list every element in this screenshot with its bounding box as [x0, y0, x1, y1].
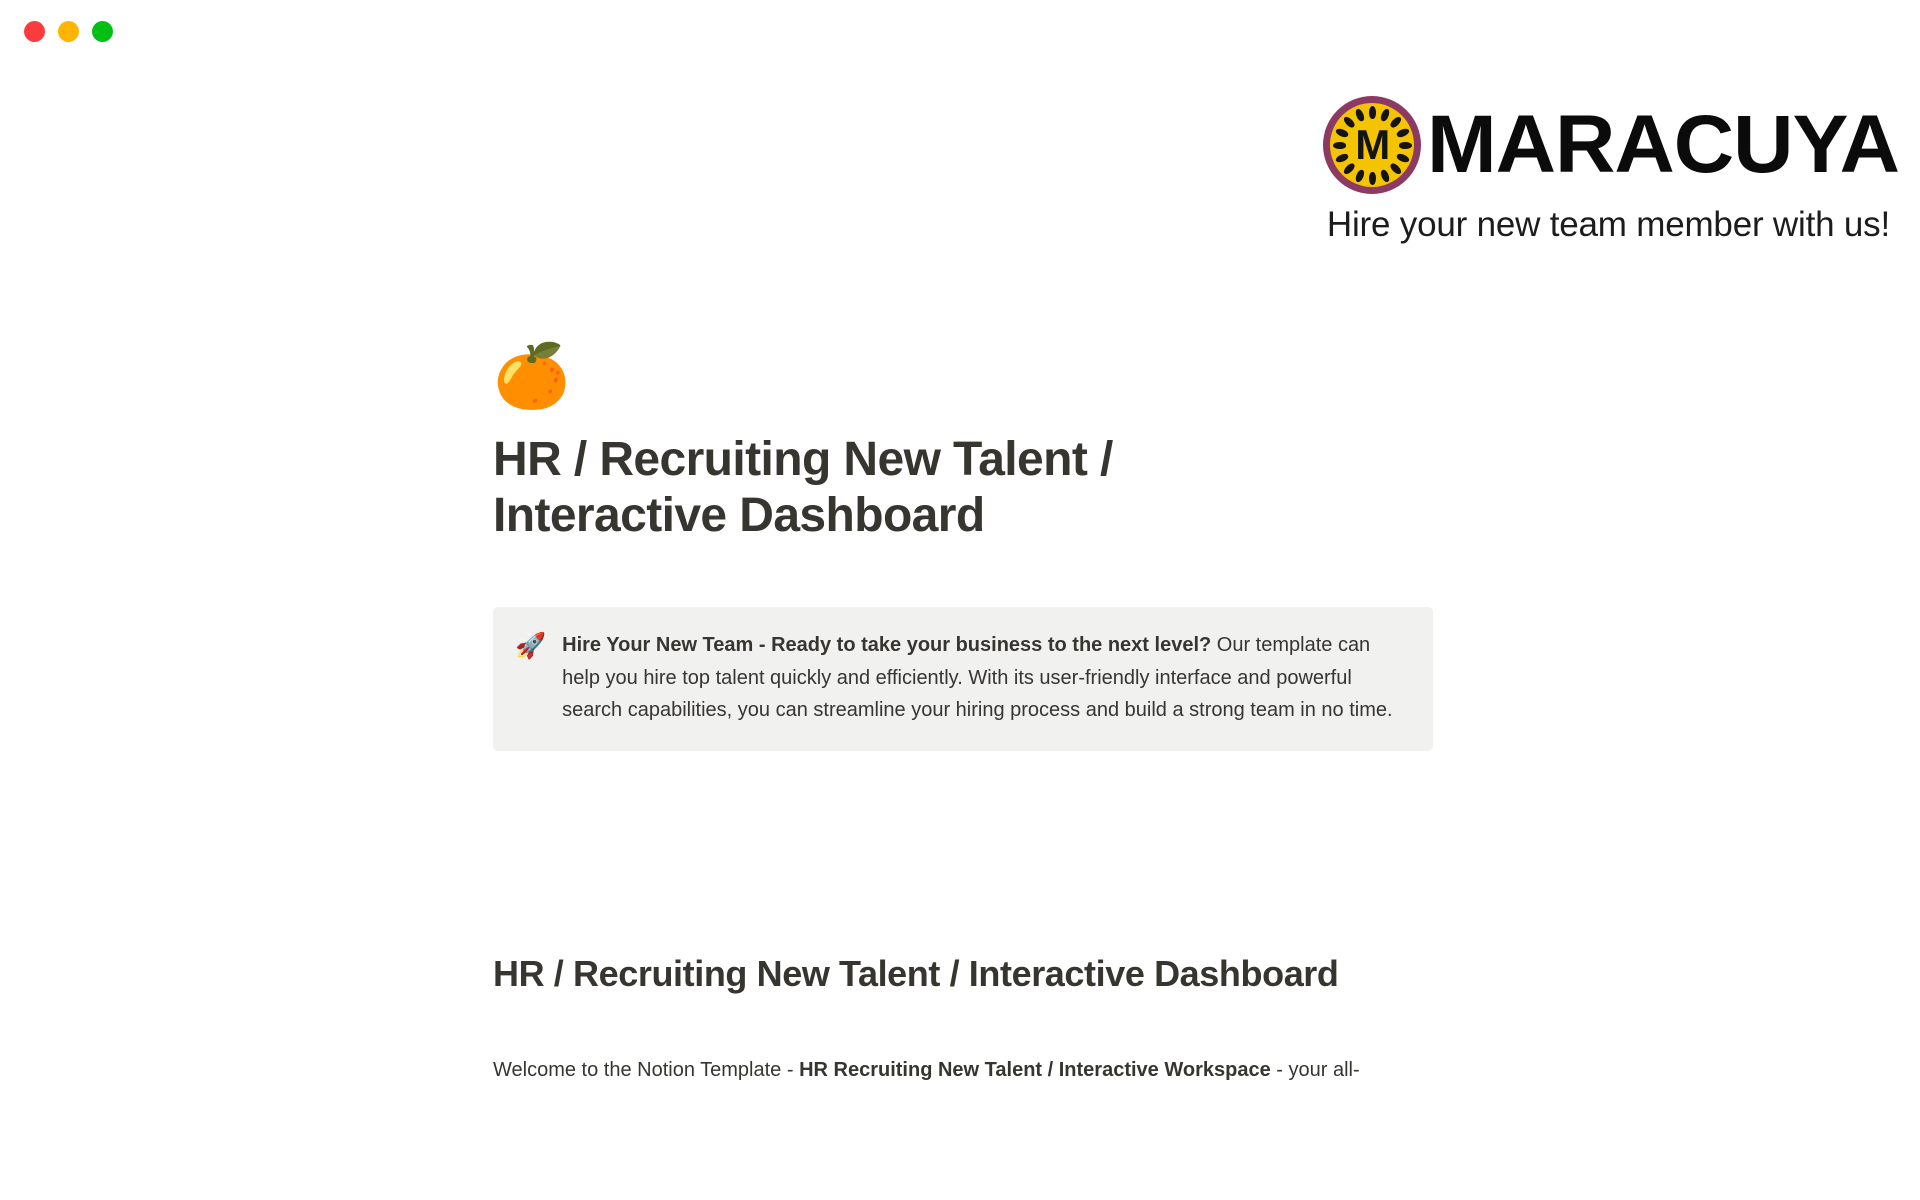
paragraph-text-after: - your all- [1271, 1059, 1360, 1081]
callout-lead-text: Hire Your New Team - Ready to take your … [562, 634, 1211, 656]
maximize-window-button[interactable] [92, 21, 113, 42]
brand-lockup: M MARACUYA [1323, 96, 1890, 194]
callout-block[interactable]: 🚀 Hire Your New Team - Ready to take you… [493, 607, 1433, 750]
maracuya-passionfruit-logo-icon: M [1323, 96, 1421, 194]
logo-monogram-letter: M [1323, 96, 1421, 194]
close-window-button[interactable] [24, 21, 45, 42]
section-paragraph: Welcome to the Notion Template - HR Recr… [493, 1054, 1433, 1086]
callout-text: Hire Your New Team - Ready to take your … [562, 629, 1409, 726]
paragraph-text-bold: HR Recruiting New Talent / Interactive W… [799, 1059, 1271, 1081]
rocket-emoji: 🚀 [515, 629, 546, 665]
tangerine-emoji[interactable]: 🍊 [493, 346, 1433, 424]
paragraph-text-before: Welcome to the Notion Template - [493, 1059, 799, 1081]
section-heading: HR / Recruiting New Talent / Interactive… [493, 951, 1433, 996]
page-content-column: 🍊 HR / Recruiting New Talent / Interacti… [493, 0, 1433, 1086]
minimize-window-button[interactable] [58, 21, 79, 42]
brand-wordmark: MARACUYA [1427, 107, 1899, 182]
page-title: HR / Recruiting New Talent / Interactive… [493, 432, 1213, 543]
